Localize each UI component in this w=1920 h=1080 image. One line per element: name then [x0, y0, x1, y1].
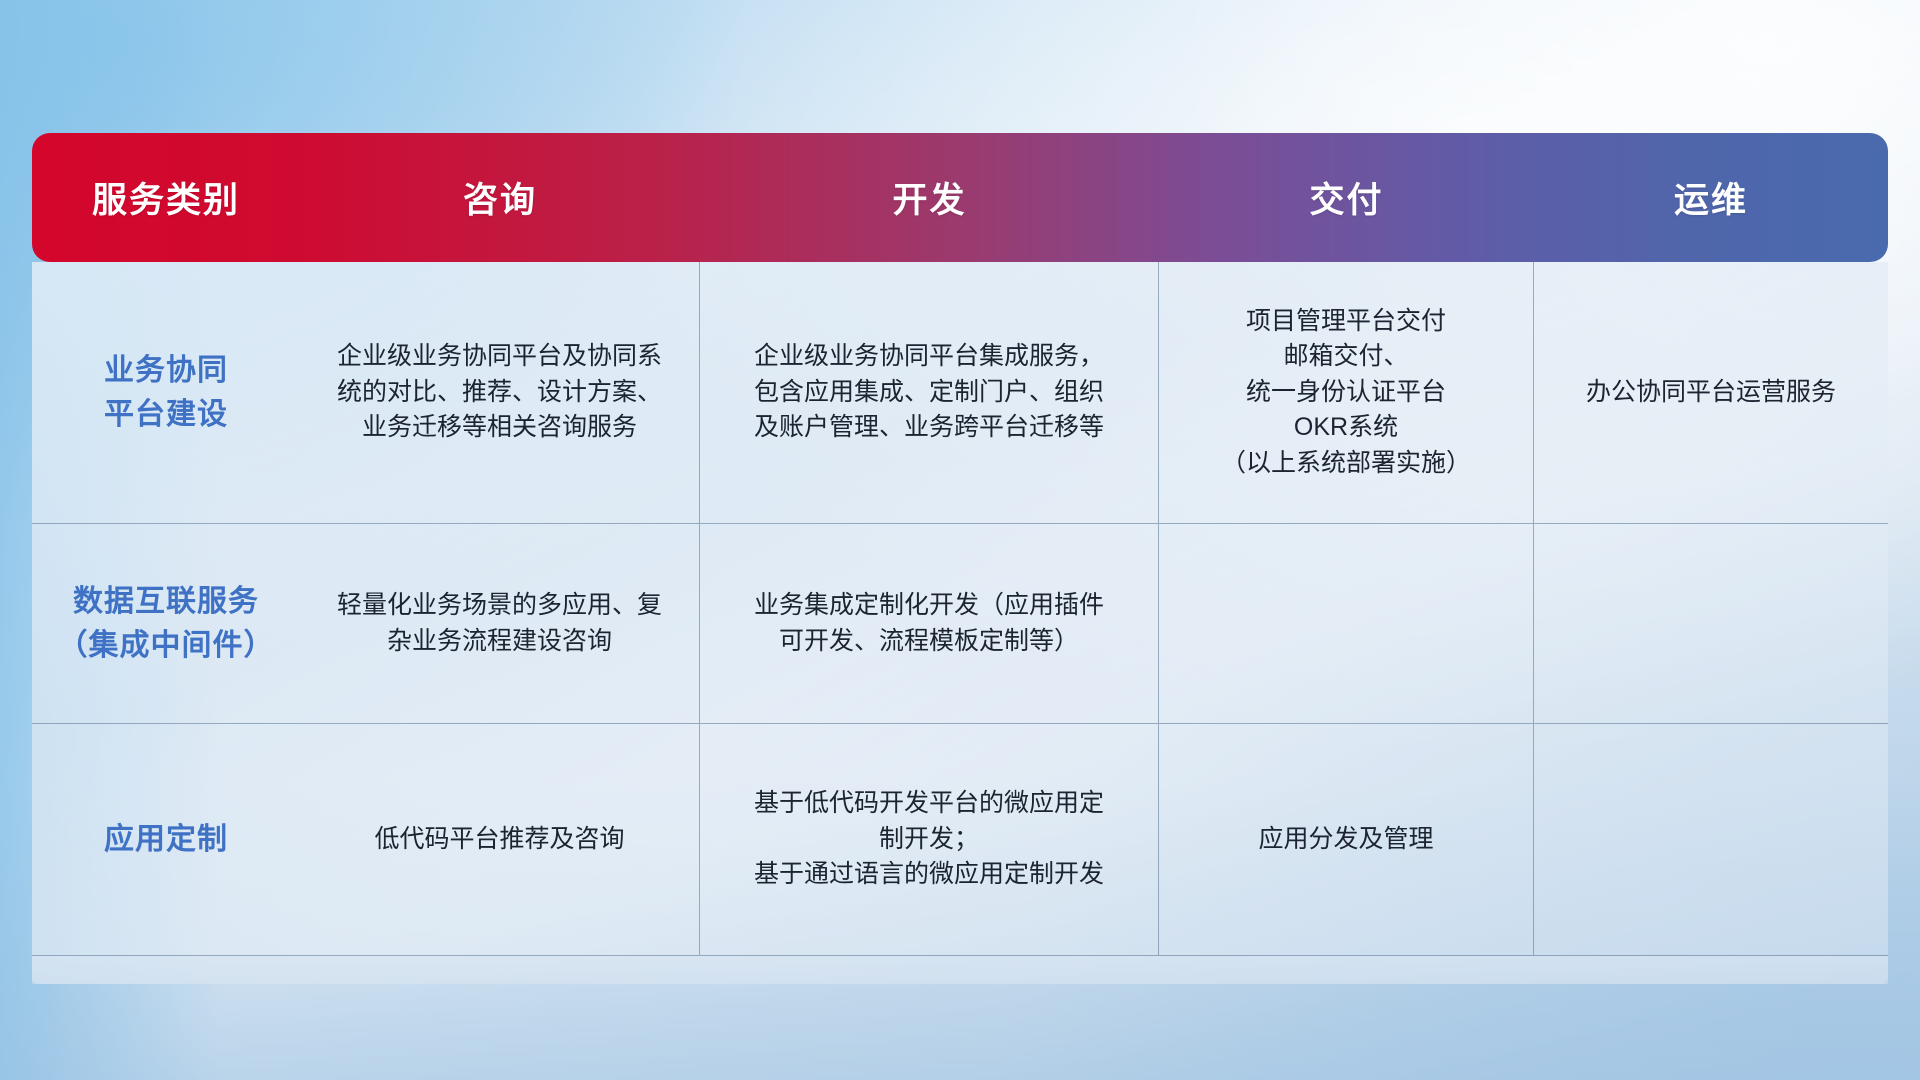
- cell-development: 企业级业务协同平台集成服务， 包含应用集成、定制门户、组织 及账户管理、业务跨平…: [700, 262, 1159, 523]
- cell-delivery: 项目管理平台交付 邮箱交付、 统一身份认证平台 OKR系统 （以上系统部署实施）: [1159, 262, 1534, 523]
- row-label-data-interconnection-service: 数据互联服务 （集成中间件）: [32, 524, 300, 723]
- cell-text: 低代码平台推荐及咨询: [316, 822, 683, 858]
- cell-text: 企业级业务协同平台集成服务， 包含应用集成、定制门户、组织 及账户管理、业务跨平…: [716, 339, 1142, 446]
- table-body: 业务协同 平台建设 企业级业务协同平台及协同系 统的对比、推荐、设计方案、 业务…: [32, 262, 1888, 984]
- table-row: 数据互联服务 （集成中间件） 轻量化业务场景的多应用、复 杂业务流程建设咨询 业…: [32, 524, 1888, 724]
- cell-delivery: 应用分发及管理: [1159, 724, 1534, 955]
- table-row: 应用定制 低代码平台推荐及咨询 基于低代码开发平台的微应用定 制开发； 基于通过…: [32, 724, 1888, 956]
- column-header-label: 服务类别: [92, 172, 240, 223]
- table-header-row: 服务类别 咨询 开发 交付 运维: [32, 133, 1888, 262]
- row-label-business-collaboration-platform: 业务协同 平台建设: [32, 262, 300, 523]
- column-header-development: 开发: [700, 133, 1159, 262]
- cell-consulting: 轻量化业务场景的多应用、复 杂业务流程建设咨询: [300, 524, 700, 723]
- cell-consulting: 企业级业务协同平台及协同系 统的对比、推荐、设计方案、 业务迁移等相关咨询服务: [300, 262, 700, 523]
- cell-operations: [1534, 524, 1888, 723]
- column-header-delivery: 交付: [1159, 133, 1534, 262]
- cell-delivery: [1159, 524, 1534, 723]
- cell-development: 业务集成定制化开发（应用插件 可开发、流程模板定制等）: [700, 524, 1159, 723]
- column-header-label: 开发: [892, 172, 966, 223]
- table-bottom-strip: [32, 956, 1888, 984]
- cell-development: 基于低代码开发平台的微应用定 制开发； 基于通过语言的微应用定制开发: [700, 724, 1159, 955]
- cell-text: 应用分发及管理: [1175, 822, 1517, 858]
- column-header-service-category: 服务类别: [32, 133, 300, 262]
- cell-operations: 办公协同平台运营服务: [1534, 262, 1888, 523]
- column-header-label: 交付: [1309, 172, 1383, 223]
- cell-text: 企业级业务协同平台及协同系 统的对比、推荐、设计方案、 业务迁移等相关咨询服务: [316, 339, 683, 446]
- table-row: 业务协同 平台建设 企业级业务协同平台及协同系 统的对比、推荐、设计方案、 业务…: [32, 262, 1888, 524]
- column-header-label: 运维: [1674, 172, 1748, 223]
- column-header-operations: 运维: [1534, 133, 1888, 262]
- column-header-consulting: 咨询: [300, 133, 700, 262]
- row-label-application-customization: 应用定制: [32, 724, 300, 955]
- column-header-label: 咨询: [463, 172, 537, 223]
- cell-text: 基于低代码开发平台的微应用定 制开发； 基于通过语言的微应用定制开发: [716, 786, 1142, 893]
- cell-text: 轻量化业务场景的多应用、复 杂业务流程建设咨询: [316, 588, 683, 659]
- cell-text: 业务集成定制化开发（应用插件 可开发、流程模板定制等）: [716, 588, 1142, 659]
- cell-text: 办公协同平台运营服务: [1550, 375, 1872, 411]
- cell-operations: [1534, 724, 1888, 955]
- row-label-text: 数据互联服务 （集成中间件）: [48, 580, 284, 667]
- row-label-text: 应用定制: [48, 818, 284, 862]
- cell-text: 项目管理平台交付 邮箱交付、 统一身份认证平台 OKR系统 （以上系统部署实施）: [1175, 304, 1517, 482]
- service-matrix-table: 服务类别 咨询 开发 交付 运维 业务协同 平台建设 企业级业务协同平台及协同系…: [32, 133, 1888, 984]
- row-label-text: 业务协同 平台建设: [48, 349, 284, 436]
- cell-consulting: 低代码平台推荐及咨询: [300, 724, 700, 955]
